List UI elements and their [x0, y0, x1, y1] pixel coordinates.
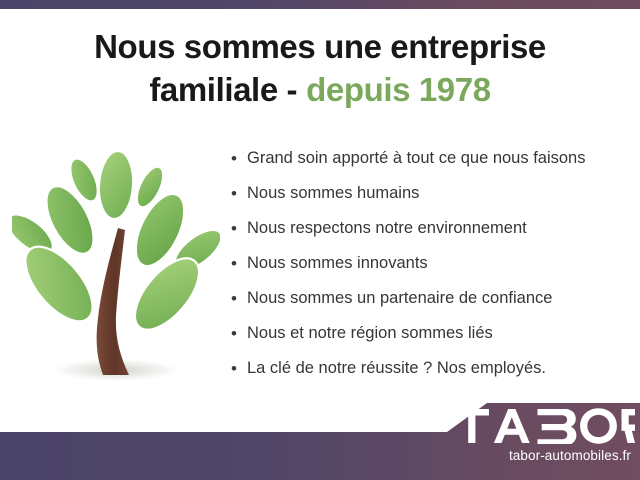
list-item-label: Nous respectons notre environnement	[247, 218, 631, 239]
slide-canvas: Nous sommes une entreprise familiale -de…	[0, 0, 640, 480]
list-item-label: Nous sommes humains	[247, 183, 631, 204]
list-item: • Nous respectons notre environnement	[231, 218, 631, 253]
list-item: • La clé de notre réussite ? Nos employé…	[231, 358, 631, 393]
list-item-label: Grand soin apporté à tout ce que nous fa…	[247, 148, 631, 169]
brand-band	[0, 395, 640, 480]
brand-band-shape	[0, 403, 640, 480]
bullet-icon: •	[231, 323, 247, 344]
list-item: • Nous sommes un partenaire de confiance	[231, 288, 631, 323]
benefits-list: • Grand soin apporté à tout ce que nous …	[231, 148, 631, 393]
list-item: • Nous sommes humains	[231, 183, 631, 218]
headline-line-2-main: familiale -	[149, 71, 297, 108]
bullet-icon: •	[231, 358, 247, 379]
bullet-icon: •	[231, 183, 247, 204]
headline-line-1: Nous sommes une entreprise	[0, 26, 640, 69]
tree-icon	[12, 142, 220, 390]
list-item-label: La clé de notre réussite ? Nos employés.	[247, 358, 631, 379]
bullet-icon: •	[231, 148, 247, 169]
list-item: • Grand soin apporté à tout ce que nous …	[231, 148, 631, 183]
bullet-icon: •	[231, 253, 247, 274]
list-item: • Nous sommes innovants	[231, 253, 631, 288]
page-title: Nous sommes une entreprise familiale -de…	[0, 26, 640, 112]
bullet-icon: •	[231, 218, 247, 239]
headline-accent: depuis 1978	[306, 71, 491, 108]
bullet-icon: •	[231, 288, 247, 309]
list-item-label: Nous et notre région sommes liés	[247, 323, 631, 344]
list-item: • Nous et notre région sommes liés	[231, 323, 631, 358]
top-accent-bar	[0, 0, 640, 9]
list-item-label: Nous sommes innovants	[247, 253, 631, 274]
list-item-label: Nous sommes un partenaire de confiance	[247, 288, 631, 309]
headline-line-2: familiale -depuis 1978	[0, 69, 640, 112]
tree-leaf	[97, 150, 136, 220]
tree-trunk	[97, 228, 129, 375]
